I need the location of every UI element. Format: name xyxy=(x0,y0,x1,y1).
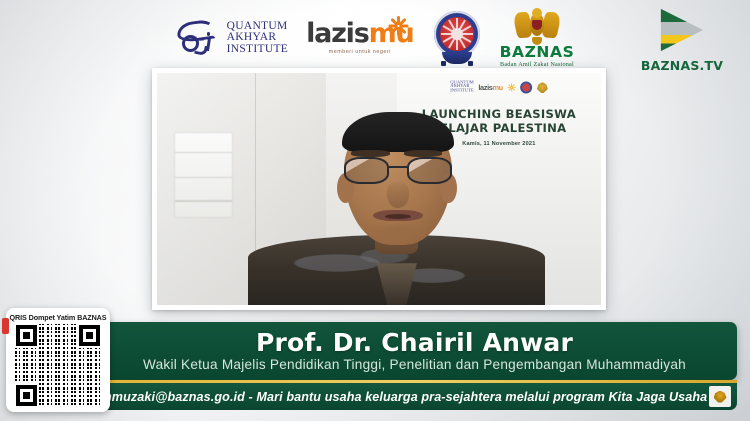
ticker-garuda-icon xyxy=(714,391,727,403)
video-feed[interactable]: QUANTUM AKHYAR INSTITUTE lazismu xyxy=(157,73,601,305)
logo-quantum-akhyar-institute: Akhyar QUANTUM AKHYAR INSTITUTE xyxy=(176,18,288,58)
lower-third-banner: Prof. Dr. Chairil Anwar Wakil Ketua Maje… xyxy=(92,322,737,380)
lazismu-tagline: memberi untuk negeri xyxy=(329,49,391,55)
logo-baznas-tv: BAZNAS.TV xyxy=(634,6,730,73)
speaker-eyebrow-right xyxy=(404,150,442,157)
logo-baznas: BAZNAS Badan Amil Zakat Nasional xyxy=(500,8,575,68)
qris-accent-tab xyxy=(2,318,9,334)
news-ticker: nmuzaki@baznas.go.id - Mari bantu usaha … xyxy=(92,383,737,410)
ticker-garuda-badge xyxy=(709,386,731,407)
quantum-akhyar-script-text: Akhyar xyxy=(190,37,205,43)
speaker-role: Wakil Ketua Majelis Pendidikan Tinggi, P… xyxy=(143,357,686,373)
muhammadiyah-seal-icon xyxy=(432,10,482,66)
speaker-eyebrow-left xyxy=(351,150,389,157)
wall-window-panel xyxy=(175,133,233,217)
qris-card[interactable]: QRIS Dompet Yatim BAZNAS xyxy=(6,308,110,412)
qr-finder-top-right xyxy=(79,325,100,346)
garuda-icon xyxy=(515,8,559,44)
baznas-tv-wordmark: BAZNAS.TV xyxy=(641,58,723,73)
qr-finder-bottom-left xyxy=(16,385,37,406)
logo-muhammadiyah-seal xyxy=(432,10,482,66)
qai-line-3: INSTITUTE xyxy=(227,44,288,56)
speaker-mouth-inner xyxy=(385,214,411,220)
play-triangle-icon xyxy=(658,6,706,54)
lazismu-sunburst-icon xyxy=(388,15,410,37)
ticker-text: nmuzaki@baznas.go.id - Mari bantu usaha … xyxy=(104,390,707,404)
logo-lazismu: lazismu memberi untuk negeri xyxy=(306,21,413,55)
qr-code-image[interactable] xyxy=(15,324,101,407)
speaker-figure xyxy=(277,73,517,305)
poster-garuda-icon xyxy=(537,82,548,93)
qris-label: QRIS Dompet Yatim BAZNAS xyxy=(10,313,107,322)
baznas-subtitle: Badan Amil Zakat Nasional xyxy=(500,61,574,68)
speaker-peci-cap xyxy=(342,112,455,151)
quantum-akhyar-mark-icon: Akhyar xyxy=(176,18,222,58)
baznas-wordmark: BAZNAS xyxy=(500,45,575,60)
quantum-akhyar-wordmark: QUANTUM AKHYAR INSTITUTE xyxy=(227,21,288,56)
speaker-nose xyxy=(387,182,409,208)
gold-divider xyxy=(92,380,737,383)
speaker-eyeglasses xyxy=(344,157,452,185)
speaker-chin xyxy=(368,222,428,241)
video-frame[interactable]: QUANTUM AKHYAR INSTITUTE lazismu xyxy=(152,68,606,310)
speaker-name: Prof. Dr. Chairil Anwar xyxy=(256,329,573,356)
lazismu-word-a: lazis xyxy=(306,18,369,49)
qr-finder-top-left xyxy=(16,325,37,346)
poster-muhammadiyah-seal-icon xyxy=(520,82,532,94)
